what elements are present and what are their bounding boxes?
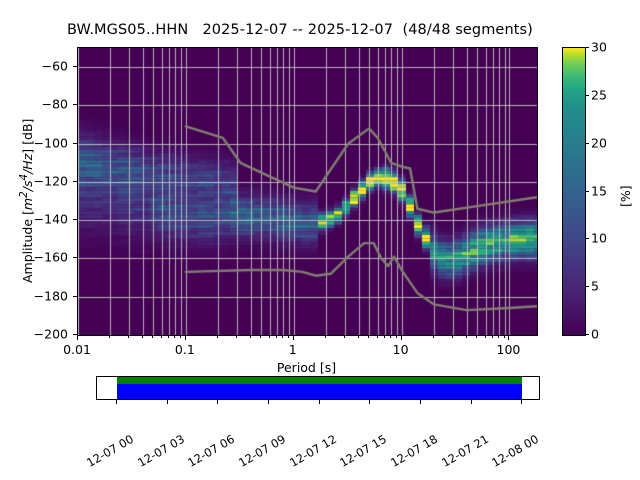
x-axis-tick-label: 10 bbox=[393, 342, 409, 357]
y-axis-tick-mark bbox=[73, 66, 77, 67]
x-axis-tick-mark bbox=[476, 335, 477, 338]
x-axis-tick-mark bbox=[161, 335, 162, 338]
time-axis-tick-mark bbox=[268, 400, 269, 404]
colorbar-tick-label: 25 bbox=[591, 87, 607, 102]
x-axis-tick-mark bbox=[217, 335, 218, 338]
ppsd-density-canvas bbox=[78, 48, 537, 335]
x-axis-tick-mark bbox=[185, 335, 186, 340]
time-axis-tick-label: 12-07 12 bbox=[287, 432, 339, 470]
x-axis-tick-mark bbox=[77, 335, 78, 340]
ppsd-figure: BW.MGS05..HHN 2025-12-07 -- 2025-12-07 (… bbox=[0, 0, 640, 480]
y-axis-tick-mark bbox=[73, 143, 77, 144]
y-axis-tick-mark bbox=[73, 296, 77, 297]
colorbar-tick-label: 30 bbox=[591, 40, 607, 55]
x-axis-tick-mark bbox=[401, 335, 402, 340]
x-axis-tick-mark bbox=[260, 335, 261, 338]
time-axis-tick-mark bbox=[167, 400, 168, 404]
x-axis-tick-mark bbox=[485, 335, 486, 338]
time-axis-tick-mark bbox=[471, 400, 472, 404]
colorbar-tick-label: 20 bbox=[591, 135, 607, 150]
x-axis-tick-mark bbox=[109, 335, 110, 338]
time-axis-tick-mark bbox=[116, 400, 117, 404]
colorbar-tick-mark bbox=[585, 286, 589, 287]
coverage-green-band bbox=[117, 377, 522, 384]
figure-title: BW.MGS05..HHN 2025-12-07 -- 2025-12-07 (… bbox=[0, 22, 600, 38]
x-axis-tick-mark bbox=[250, 335, 251, 338]
x-axis-tick-mark bbox=[396, 335, 397, 338]
y-axis-tick-label: −80 bbox=[0, 97, 68, 112]
x-axis-tick-mark bbox=[433, 335, 434, 338]
coverage-blue-band bbox=[117, 384, 522, 399]
x-axis-tick-mark bbox=[180, 335, 181, 338]
x-axis-tick-mark bbox=[325, 335, 326, 338]
x-axis-tick-mark bbox=[293, 335, 294, 340]
y-axis-tick-label: −180 bbox=[0, 288, 68, 303]
time-axis-tick-mark bbox=[319, 400, 320, 404]
x-axis-label: Period [s] bbox=[277, 360, 336, 375]
x-axis-tick-mark bbox=[492, 335, 493, 338]
x-axis-tick-mark bbox=[288, 335, 289, 338]
ppsd-plot-area bbox=[77, 47, 538, 336]
y-axis-tick-label: −60 bbox=[0, 59, 68, 74]
x-axis-tick-mark bbox=[377, 335, 378, 338]
time-axis-tick-mark bbox=[420, 400, 421, 404]
colorbar bbox=[562, 47, 586, 336]
x-axis-tick-mark bbox=[344, 335, 345, 338]
x-axis-tick-mark bbox=[142, 335, 143, 338]
time-axis-tick-label: 12-07 06 bbox=[185, 432, 237, 470]
x-axis-tick-mark bbox=[236, 335, 237, 338]
y-axis-tick-mark bbox=[73, 181, 77, 182]
x-axis-tick-mark bbox=[152, 335, 153, 338]
x-axis-tick-mark bbox=[269, 335, 270, 338]
colorbar-tick-mark bbox=[585, 238, 589, 239]
y-axis-tick-mark bbox=[73, 104, 77, 105]
x-axis-tick-label: 1 bbox=[289, 342, 297, 357]
time-axis-tick-mark bbox=[369, 400, 370, 404]
colorbar-tick-mark bbox=[585, 95, 589, 96]
time-axis-tick-label: 12-07 18 bbox=[388, 432, 440, 470]
time-axis-tick-mark bbox=[217, 400, 218, 404]
colorbar-label: [%] bbox=[618, 185, 633, 207]
time-axis-tick-label: 12-07 15 bbox=[337, 432, 389, 470]
data-coverage-bar bbox=[96, 376, 540, 400]
x-axis-tick-mark bbox=[168, 335, 169, 338]
x-axis-tick-mark bbox=[358, 335, 359, 338]
x-axis-tick-label: 100 bbox=[497, 342, 521, 357]
colorbar-tick-mark bbox=[585, 47, 589, 48]
colorbar-tick-mark bbox=[585, 191, 589, 192]
x-axis-tick-label: 0.1 bbox=[175, 342, 195, 357]
colorbar-tick-mark bbox=[585, 334, 589, 335]
x-axis-tick-mark bbox=[498, 335, 499, 338]
x-axis-tick-mark bbox=[466, 335, 467, 338]
x-axis-tick-mark bbox=[384, 335, 385, 338]
colorbar-tick-label: 5 bbox=[591, 279, 599, 294]
x-axis-tick-mark bbox=[390, 335, 391, 338]
y-axis-label: Amplitude [m2/s4/Hz] [dB] bbox=[18, 118, 35, 282]
x-axis-tick-mark bbox=[128, 335, 129, 338]
x-axis-tick-mark bbox=[452, 335, 453, 338]
time-axis-tick-label: 12-08 00 bbox=[489, 432, 541, 470]
time-axis-tick-mark bbox=[521, 400, 522, 404]
x-axis-tick-mark bbox=[174, 335, 175, 338]
colorbar-tick-label: 0 bbox=[591, 327, 599, 342]
y-axis-tick-mark bbox=[73, 257, 77, 258]
x-axis-tick-mark bbox=[508, 335, 509, 340]
x-axis-tick-mark bbox=[282, 335, 283, 338]
time-axis-tick-label: 12-07 03 bbox=[135, 432, 187, 470]
time-axis-tick-label: 12-07 09 bbox=[236, 432, 288, 470]
y-axis-tick-mark bbox=[73, 219, 77, 220]
x-axis-tick-mark bbox=[368, 335, 369, 338]
y-axis-tick-label: −200 bbox=[0, 327, 68, 342]
x-axis-tick-mark bbox=[276, 335, 277, 338]
x-axis-tick-label: 0.01 bbox=[63, 342, 91, 357]
x-axis-tick-mark bbox=[504, 335, 505, 338]
colorbar-tick-label: 10 bbox=[591, 231, 607, 246]
colorbar-tick-label: 15 bbox=[591, 183, 607, 198]
time-axis-tick-label: 12-07 00 bbox=[84, 432, 136, 470]
time-axis-tick-label: 12-07 21 bbox=[439, 432, 491, 470]
colorbar-tick-mark bbox=[585, 143, 589, 144]
coverage-fill bbox=[117, 377, 522, 399]
